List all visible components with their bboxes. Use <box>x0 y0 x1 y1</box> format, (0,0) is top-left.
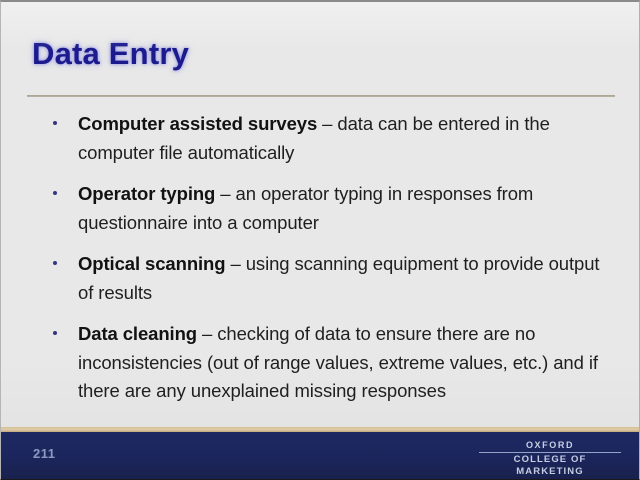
title-area: Data Entry <box>1 36 639 84</box>
page-title: Data Entry <box>32 36 189 72</box>
logo-divider <box>479 452 621 453</box>
presentation-slide: Data Entry Computer assisted surveys – d… <box>0 0 640 480</box>
slide-footer: 211 OXFORD COLLEGE OF MARKETING <box>1 432 639 479</box>
list-item: Operator typing – an operator typing in … <box>48 180 603 237</box>
list-item-term: Data cleaning <box>78 323 197 344</box>
bullet-list: Computer assisted surveys – data can be … <box>48 110 603 406</box>
organization-logo: OXFORD COLLEGE OF MARKETING <box>479 440 621 480</box>
page-number: 211 <box>33 446 55 461</box>
bullet-dot-icon <box>53 121 57 125</box>
list-item-term: Operator typing <box>78 183 215 204</box>
title-divider-rule <box>27 95 615 97</box>
list-item: Optical scanning – using scanning equipm… <box>48 250 603 307</box>
list-item: Computer assisted surveys – data can be … <box>48 110 603 167</box>
bullet-dot-icon <box>53 261 57 265</box>
bullet-dot-icon <box>53 191 57 195</box>
bullet-dot-icon <box>53 331 57 335</box>
list-item-term: Computer assisted surveys <box>78 113 317 134</box>
logo-name-secondary: COLLEGE OF MARKETING <box>479 454 621 478</box>
list-item-term: Optical scanning <box>78 253 225 274</box>
list-item: Data cleaning – checking of data to ensu… <box>48 320 603 406</box>
logo-name-primary: OXFORD <box>479 440 621 451</box>
